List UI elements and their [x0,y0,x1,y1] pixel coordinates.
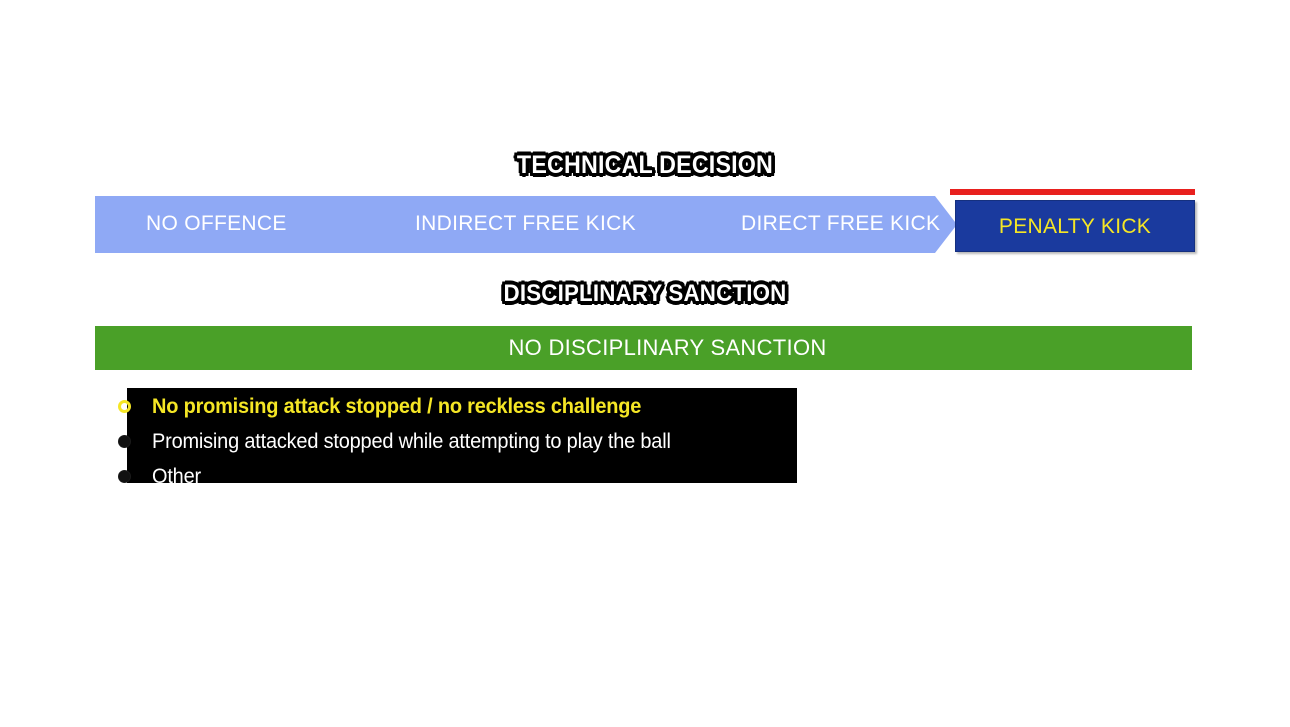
slide-canvas: TECHNICAL DECISION NO OFFENCE INDIRECT F… [0,0,1290,727]
technical-option-direct-free-kick[interactable]: DIRECT FREE KICK [741,213,940,234]
no-disciplinary-sanction-banner[interactable]: NO DISCIPLINARY SANCTION [95,326,1192,370]
disciplinary-option-row-other[interactable]: Other [112,458,204,483]
technical-decision-heading: TECHNICAL DECISION [45,150,1245,180]
technical-option-penalty-kick[interactable]: PENALTY KICK [955,200,1195,252]
disciplinary-sanction-heading: DISCIPLINARY SANCTION [45,279,1245,308]
penalty-kick-label: PENALTY KICK [999,216,1151,237]
disciplinary-option-label-1: Promising attacked stopped while attempt… [152,431,671,452]
penalty-kick-accent-rule [950,189,1195,195]
solid-circle-bullet-icon [118,435,131,448]
no-disciplinary-sanction-label: NO DISCIPLINARY SANCTION [119,337,1216,359]
technical-decision-bar: NO OFFENCE INDIRECT FREE KICK DIRECT FRE… [95,196,957,253]
disciplinary-options-list: No promising attack stopped / no reckles… [112,388,872,483]
disciplinary-option-label-2: Other [152,466,201,484]
solid-circle-bullet-icon [118,470,131,483]
hollow-circle-bullet-icon [118,400,131,413]
technical-option-no-offence[interactable]: NO OFFENCE [146,213,287,234]
disciplinary-option-row-promising-attack[interactable]: Promising attacked stopped while attempt… [112,423,698,459]
disciplinary-option-label-0: No promising attack stopped / no reckles… [152,396,641,417]
technical-option-indirect-free-kick[interactable]: INDIRECT FREE KICK [415,213,636,234]
disciplinary-option-row-selected[interactable]: No promising attack stopped / no reckles… [112,388,667,424]
